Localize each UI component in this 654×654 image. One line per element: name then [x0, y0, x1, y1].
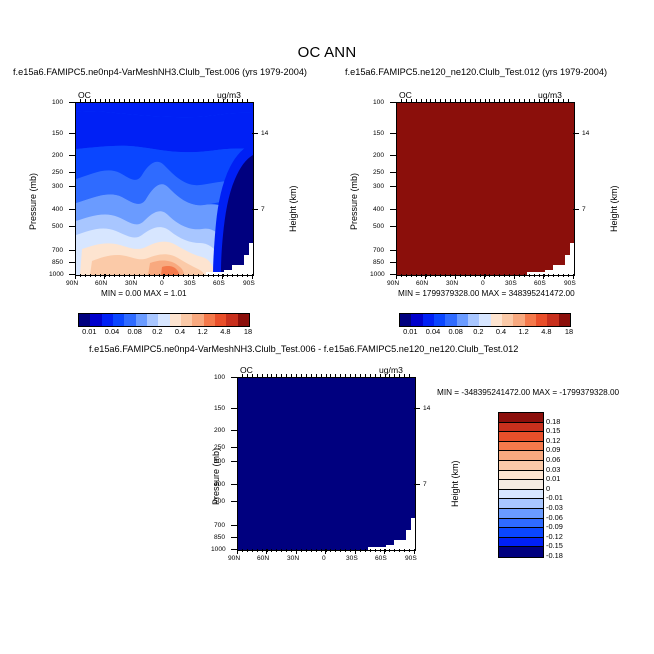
ytick-label: 1000 [370, 271, 385, 278]
minor-tick [465, 274, 466, 277]
minor-tick [409, 374, 410, 377]
minor-tick [257, 549, 258, 552]
panel-left-contour-field [76, 103, 253, 275]
minor-tick [203, 274, 204, 277]
minor-tick [485, 99, 486, 102]
minor-tick [460, 99, 461, 102]
minor-tick [416, 99, 417, 102]
colorbar-swatch [499, 528, 543, 538]
minor-tick [558, 99, 559, 102]
xtick-label: 60S [375, 555, 387, 562]
minor-tick [134, 274, 135, 277]
ytick-label: 250 [52, 169, 63, 176]
colorbar-tick-label: 4.8 [534, 327, 558, 336]
minor-tick [399, 374, 400, 377]
colorbar-swatch [513, 314, 524, 326]
colorbar-tick-label: 0.2 [466, 327, 490, 336]
ytick-label: 200 [373, 152, 384, 159]
colorbar-tick-label: 0.01 [546, 474, 560, 483]
minor-tick [406, 274, 407, 277]
colorbar-swatch [547, 314, 558, 326]
xtick-label: 30S [184, 280, 196, 287]
colorbar-tick-label: 18 [236, 327, 260, 336]
panel-diff-contour-field [238, 378, 415, 550]
minor-tick [105, 274, 106, 277]
minor-tick [183, 99, 184, 102]
minor-tick [321, 549, 322, 552]
minor-tick [445, 99, 446, 102]
colorbar-swatch [445, 314, 456, 326]
colorbar-tick-label: 0.03 [546, 465, 560, 474]
minor-tick [311, 374, 312, 377]
minor-tick [340, 374, 341, 377]
minor-tick [480, 99, 481, 102]
minor-tick [223, 99, 224, 102]
minor-tick [316, 549, 317, 552]
page-title: OC ANN [0, 44, 654, 61]
minor-tick [114, 274, 115, 277]
minor-tick [129, 274, 130, 277]
minor-tick [100, 274, 101, 277]
minor-tick [291, 374, 292, 377]
minor-tick [355, 549, 356, 552]
minor-tick [450, 274, 451, 277]
minor-tick [330, 374, 331, 377]
ytick-label: 200 [52, 152, 63, 159]
minor-tick [394, 549, 395, 552]
ytick-label: 300 [373, 183, 384, 190]
colorbar-swatch [499, 451, 543, 461]
colorbar-swatch [536, 314, 547, 326]
minor-tick [435, 274, 436, 277]
colorbar-swatch [215, 314, 226, 326]
minor-tick [326, 549, 327, 552]
minor-tick [430, 274, 431, 277]
minor-tick [95, 99, 96, 102]
height-tick-label: 14 [582, 130, 589, 137]
minor-tick [213, 274, 214, 277]
minor-tick [252, 374, 253, 377]
minor-tick [271, 374, 272, 377]
minor-tick [499, 99, 500, 102]
colorbar-swatch [238, 314, 249, 326]
minor-tick [544, 99, 545, 102]
height-tick-label: 14 [261, 130, 268, 137]
colorbar-swatch [499, 432, 543, 442]
minor-tick [411, 99, 412, 102]
minor-tick [168, 99, 169, 102]
colorbar-swatch [181, 314, 192, 326]
ytick-label: 150 [52, 130, 63, 137]
colorbar-swatch [90, 314, 101, 326]
ytick-label: 850 [52, 259, 63, 266]
xtick-label: 60S [213, 280, 225, 287]
colorbar-swatch [400, 314, 411, 326]
colorbar-swatch [502, 314, 513, 326]
minor-tick [404, 549, 405, 552]
minor-tick [203, 99, 204, 102]
minor-tick [539, 274, 540, 277]
minor-tick [494, 274, 495, 277]
panel-right-title: f.e15a6.FAMIPC5.ne120_ne120.Clulb_Test.0… [345, 67, 607, 77]
minor-tick [173, 99, 174, 102]
xtick-label: 60N [416, 280, 428, 287]
minor-tick [375, 374, 376, 377]
minor-tick [548, 274, 549, 277]
minor-tick [242, 274, 243, 277]
height-tick-label: 7 [423, 481, 427, 488]
minor-tick [509, 99, 510, 102]
minor-tick [80, 99, 81, 102]
minor-tick [345, 374, 346, 377]
colorbar-tick-label: 18 [557, 327, 581, 336]
colorbar-swatch [499, 471, 543, 481]
minor-tick [440, 274, 441, 277]
colorbar-swatch [499, 547, 543, 557]
minor-tick [247, 549, 248, 552]
ytick-label: 100 [214, 374, 225, 381]
minor-tick [149, 274, 150, 277]
minor-tick [267, 549, 268, 552]
ytick-label: 150 [214, 405, 225, 412]
minor-tick [489, 99, 490, 102]
colorbar-swatch [434, 314, 445, 326]
minor-tick [296, 549, 297, 552]
colorbar-swatch [158, 314, 169, 326]
minor-tick [164, 274, 165, 277]
colorbar-tick-label: 0.4 [489, 327, 513, 336]
minor-tick [144, 99, 145, 102]
minor-tick [173, 274, 174, 277]
minor-tick [421, 99, 422, 102]
minor-tick [242, 549, 243, 552]
colorbar-left [78, 313, 250, 327]
panel-right-ylabel: Pressure (mb) [349, 173, 359, 230]
colorbar-tick-label: -0.12 [546, 532, 563, 541]
colorbar-swatch [124, 314, 135, 326]
minor-tick [281, 374, 282, 377]
minor-tick [105, 99, 106, 102]
minor-tick [213, 99, 214, 102]
minor-tick [257, 374, 258, 377]
colorbar-swatch [457, 314, 468, 326]
xtick-label: 90S [405, 555, 417, 562]
minor-tick [124, 274, 125, 277]
minor-tick [227, 99, 228, 102]
xtick-label: 30N [125, 280, 137, 287]
minor-tick [134, 99, 135, 102]
minor-tick [445, 274, 446, 277]
minor-tick [242, 374, 243, 377]
minor-tick [470, 99, 471, 102]
colorbar-swatch [499, 442, 543, 452]
minor-tick [109, 99, 110, 102]
minor-tick [370, 549, 371, 552]
minor-tick [335, 549, 336, 552]
minor-tick [494, 99, 495, 102]
minor-tick [218, 274, 219, 277]
minor-tick [360, 549, 361, 552]
ytick-label: 500 [373, 223, 384, 230]
minor-tick [426, 99, 427, 102]
colorbar-tick-label: 4.8 [213, 327, 237, 336]
minor-tick [85, 274, 86, 277]
minor-tick [475, 274, 476, 277]
minor-tick [421, 274, 422, 277]
minor-tick [237, 99, 238, 102]
minor-tick [242, 99, 243, 102]
minor-tick [365, 374, 366, 377]
minor-tick [208, 99, 209, 102]
minor-tick [553, 274, 554, 277]
colorbar-tick-label: 1.2 [191, 327, 215, 336]
minor-tick [330, 549, 331, 552]
minor-tick [380, 374, 381, 377]
minor-tick [529, 99, 530, 102]
minor-tick [276, 549, 277, 552]
xtick-label: 0 [160, 280, 164, 287]
panel-diff-ylabel: Pressure (mb) [211, 448, 221, 505]
ytick-label: 250 [214, 444, 225, 451]
minor-tick [247, 374, 248, 377]
colorbar-tick-label: 0.15 [546, 426, 560, 435]
height-tick-label: 7 [582, 206, 586, 213]
panel-diff-ylabel-right: Height (km) [450, 460, 460, 507]
minor-tick [85, 99, 86, 102]
xtick-label: 30N [446, 280, 458, 287]
ytick-label: 400 [214, 481, 225, 488]
colorbar-swatch [499, 538, 543, 548]
minor-tick [370, 374, 371, 377]
xtick-label: 90S [564, 280, 576, 287]
minor-tick [159, 274, 160, 277]
minor-tick [514, 99, 515, 102]
minor-tick [306, 549, 307, 552]
ytick-label: 700 [52, 247, 63, 254]
colorbar-tick-label: 0.18 [546, 417, 560, 426]
minor-tick [109, 274, 110, 277]
minor-tick [149, 99, 150, 102]
minor-tick [232, 99, 233, 102]
colorbar-swatch [226, 314, 237, 326]
panel-right-plot [396, 102, 575, 276]
ytick-label: 700 [214, 522, 225, 529]
ytick-label: 700 [373, 247, 384, 254]
xtick-label: 90N [228, 555, 240, 562]
colorbar-tick-label: 0 [546, 484, 550, 493]
ytick-label: 1000 [49, 271, 64, 278]
minor-tick [223, 274, 224, 277]
minor-tick [401, 274, 402, 277]
xtick-label: 90N [387, 280, 399, 287]
panel-left-title: f.e15a6.FAMIPC5.ne0np4-VarMeshNH3.Clulb_… [13, 67, 307, 77]
colorbar-swatch [170, 314, 181, 326]
height-tick-label: 14 [423, 405, 430, 412]
minor-tick [296, 374, 297, 377]
minor-tick [365, 549, 366, 552]
ytick-label: 150 [373, 130, 384, 137]
colorbar-tick-label: -0.06 [546, 513, 563, 522]
minor-tick [465, 99, 466, 102]
xtick-label: 60N [257, 555, 269, 562]
minor-tick [247, 99, 248, 102]
minor-tick [114, 99, 115, 102]
minor-tick [380, 549, 381, 552]
colorbar-swatch [468, 314, 479, 326]
minor-tick [470, 274, 471, 277]
minor-tick [168, 274, 169, 277]
ytick-label: 850 [373, 259, 384, 266]
colorbar-tick-label: 0.04 [421, 327, 445, 336]
minor-tick [183, 274, 184, 277]
minor-tick [262, 549, 263, 552]
xtick-label: 0 [481, 280, 485, 287]
minor-tick [262, 374, 263, 377]
minor-tick [267, 374, 268, 377]
xtick-label: 30S [346, 555, 358, 562]
minor-tick [558, 274, 559, 277]
minor-tick [499, 274, 500, 277]
ytick-label: 850 [214, 534, 225, 541]
colorbar-swatch [491, 314, 502, 326]
colorbar-swatch [499, 509, 543, 519]
minor-tick [193, 99, 194, 102]
panel-diff-plot [237, 377, 416, 551]
minor-tick [568, 99, 569, 102]
minor-tick [440, 99, 441, 102]
minor-tick [286, 549, 287, 552]
minor-tick [548, 99, 549, 102]
colorbar-tick-label: 0.08 [123, 327, 147, 336]
colorbar-swatch [411, 314, 422, 326]
ytick-label: 400 [52, 206, 63, 213]
minor-tick [144, 274, 145, 277]
minor-tick [301, 549, 302, 552]
minor-tick [95, 274, 96, 277]
ytick-label: 500 [52, 223, 63, 230]
ytick-label: 200 [214, 427, 225, 434]
colorbar-tick-label: 0.01 [77, 327, 101, 336]
minor-tick [385, 374, 386, 377]
colorbar-tick-label: 0.2 [145, 327, 169, 336]
minor-tick [480, 274, 481, 277]
minor-tick [193, 274, 194, 277]
minor-tick [311, 549, 312, 552]
minor-tick [291, 549, 292, 552]
ytick-label: 300 [52, 183, 63, 190]
minor-tick [355, 374, 356, 377]
minor-tick [389, 374, 390, 377]
minor-tick [519, 99, 520, 102]
minor-tick [524, 99, 525, 102]
minor-tick [430, 99, 431, 102]
colorbar-swatch [525, 314, 536, 326]
panel-right-ylabel-right: Height (km) [609, 185, 619, 232]
panel-diff-minmax: MIN = -348395241472.00 MAX = -1799379328… [437, 388, 619, 397]
minor-tick [489, 274, 490, 277]
minor-tick [326, 374, 327, 377]
minor-tick [435, 99, 436, 102]
colorbar-swatch [136, 314, 147, 326]
minor-tick [399, 549, 400, 552]
minor-tick [247, 274, 248, 277]
minor-tick [504, 274, 505, 277]
minor-tick [416, 274, 417, 277]
xtick-label: 0 [322, 555, 326, 562]
minor-tick [90, 274, 91, 277]
minor-tick [563, 274, 564, 277]
xtick-label: 60N [95, 280, 107, 287]
minor-tick [345, 549, 346, 552]
minor-tick [563, 99, 564, 102]
minor-tick [286, 374, 287, 377]
minor-tick [524, 274, 525, 277]
minor-tick [485, 274, 486, 277]
minor-tick [450, 99, 451, 102]
minor-tick [139, 99, 140, 102]
minor-tick [252, 549, 253, 552]
minor-tick [80, 274, 81, 277]
minor-tick [375, 549, 376, 552]
xtick-label: 60S [534, 280, 546, 287]
minor-tick [271, 549, 272, 552]
colorbar-tick-label: -0.15 [546, 541, 563, 550]
minor-tick [360, 374, 361, 377]
minor-tick [504, 99, 505, 102]
minor-tick [321, 374, 322, 377]
colorbar-swatch [479, 314, 490, 326]
minor-tick [514, 274, 515, 277]
minor-tick [218, 99, 219, 102]
minor-tick [568, 274, 569, 277]
minor-tick [534, 99, 535, 102]
minor-tick [404, 374, 405, 377]
minor-tick [178, 99, 179, 102]
xtick-label: 30S [505, 280, 517, 287]
ytick-label: 300 [214, 458, 225, 465]
xtick-label: 90N [66, 280, 78, 287]
ytick-label: 250 [373, 169, 384, 176]
ytick-label: 100 [52, 99, 63, 106]
minor-tick [208, 274, 209, 277]
minor-tick [426, 274, 427, 277]
colorbar-tick-label: 0.09 [546, 445, 560, 454]
colorbar-swatch [499, 413, 543, 423]
colorbar-swatch [192, 314, 203, 326]
minor-tick [198, 99, 199, 102]
colorbar-tick-label: -0.09 [546, 522, 563, 531]
panel-left-ylabel-right: Height (km) [288, 185, 298, 232]
colorbar-tick-label: -0.03 [546, 503, 563, 512]
minor-tick [159, 99, 160, 102]
colorbar-swatch [499, 490, 543, 500]
minor-tick [509, 274, 510, 277]
ytick-label: 500 [214, 498, 225, 505]
colorbar-swatch [499, 423, 543, 433]
minor-tick [455, 99, 456, 102]
minor-tick [198, 274, 199, 277]
panel-left-ylabel: Pressure (mb) [28, 173, 38, 230]
minor-tick [409, 549, 410, 552]
colorbar-tick-label: 0.08 [444, 327, 468, 336]
colorbar-tick-label: 0.04 [100, 327, 124, 336]
xtick-label: 30N [287, 555, 299, 562]
minor-tick [406, 99, 407, 102]
panel-left-minmax: MIN = 0.00 MAX = 1.01 [101, 289, 187, 298]
minor-tick [316, 374, 317, 377]
minor-tick [539, 99, 540, 102]
minor-tick [301, 374, 302, 377]
